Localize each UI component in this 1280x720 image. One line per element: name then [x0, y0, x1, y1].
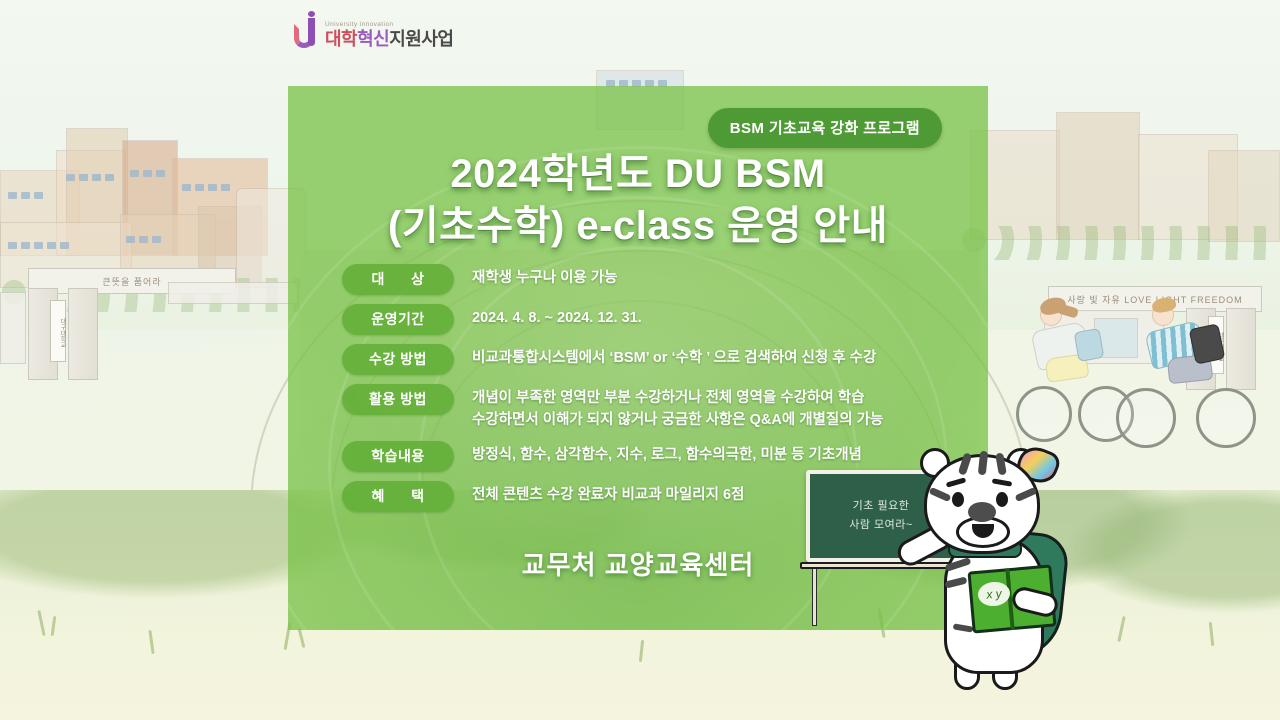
info-label-enrollment-method: 수강 방법 [342, 344, 454, 375]
logo-korean-part3: 지원사업 [389, 29, 453, 49]
poster-canvas: 큰뜻을 품어라 대구대학교 사랑 빛 자유 LOVE LIGHT FREEDOM [0, 0, 1280, 720]
poster-title: 2024학년도 DU BSM (기초수학) e-class 운영 안내 [288, 148, 988, 252]
info-value-period: 2024. 4. 8. ~ 2024. 12. 31. [472, 304, 964, 329]
info-row-enrollment-method: 수강 방법 비교과통합시스템에서 ‘BSM’ or ‘수학 ’ 으로 검색하여 … [342, 344, 964, 375]
info-value-curriculum: 방정식, 함수, 삼각함수, 지수, 로그, 함수의극한, 미분 등 기초개념 [472, 441, 964, 466]
uj-monogram-icon [294, 18, 320, 48]
mascot-eye-left-icon [952, 492, 964, 507]
poster-title-line-1: 2024학년도 DU BSM [288, 148, 988, 200]
logo-korean-text: 대학혁신지원사업 [325, 30, 454, 48]
mascot-eye-right-icon [996, 492, 1008, 507]
info-label-usage-method: 활용 방법 [342, 384, 454, 415]
university-innovation-logo: University innovation 대학혁신지원사업 [294, 18, 454, 48]
info-value-usage-method: 개념이 부족한 영역만 부분 수강하거나 전체 영역을 수강하여 학습 수강하면… [472, 384, 964, 432]
info-value-enrollment-method: 비교과통합시스템에서 ‘BSM’ or ‘수학 ’ 으로 검색하여 신청 후 수… [472, 344, 964, 369]
info-label-period: 운영기간 [342, 304, 454, 335]
logo-english-text: University innovation [325, 22, 454, 29]
info-row-target: 대 상 재학생 누구나 이용 가능 [342, 264, 964, 295]
info-label-curriculum: 학습내용 [342, 441, 454, 472]
info-row-usage-method: 활용 방법 개념이 부족한 영역만 부분 수강하거나 전체 영역을 수강하여 학… [342, 384, 964, 432]
logo-korean-part2: 혁신 [357, 29, 389, 49]
left-gate-plate: 대구대학교 [50, 300, 66, 362]
poster-title-line-2: (기초수학) e-class 운영 안내 [288, 200, 988, 252]
mascot-nose-icon [968, 502, 996, 522]
program-badge: BSM 기초교육 강화 프로그램 [708, 108, 942, 148]
info-value-target: 재학생 누구나 이용 가능 [472, 264, 964, 289]
info-label-target: 대 상 [342, 264, 454, 295]
logo-korean-part1: 대학 [325, 29, 357, 49]
info-row-curriculum: 학습내용 방정식, 함수, 삼각함수, 지수, 로그, 함수의극한, 미분 등 … [342, 441, 964, 472]
white-tiger-mascot: x y [900, 440, 1110, 700]
info-row-period: 운영기간 2024. 4. 8. ~ 2024. 12. 31. [342, 304, 964, 335]
info-label-benefit: 혜 택 [342, 481, 454, 512]
